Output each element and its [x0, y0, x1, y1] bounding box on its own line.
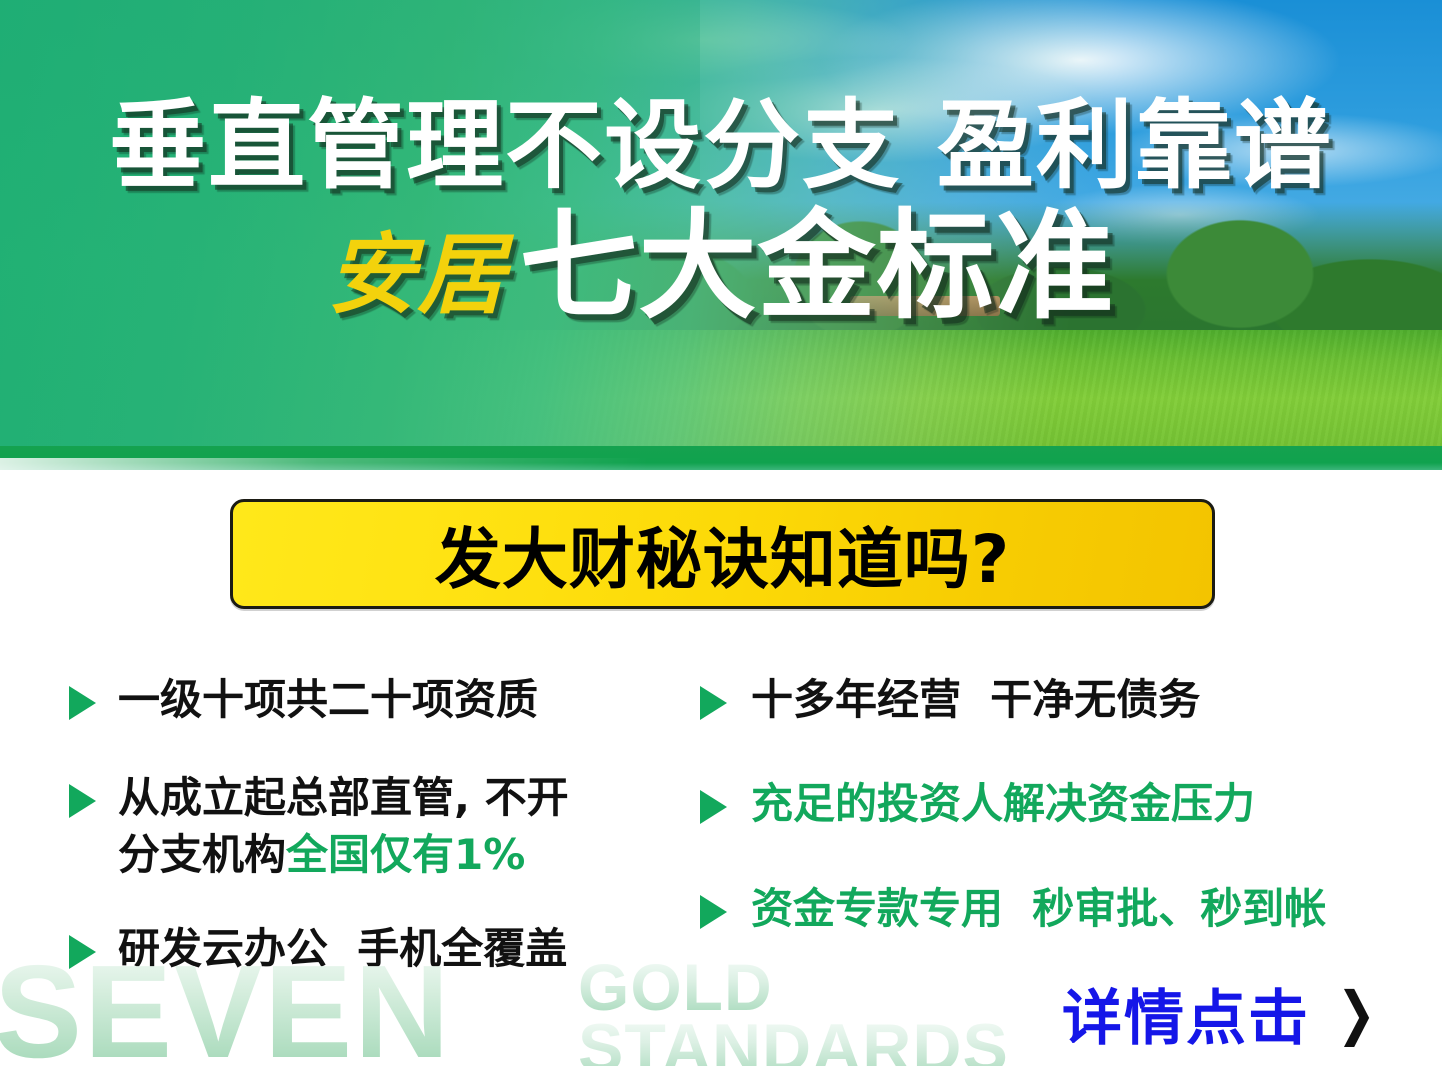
feature-text: 十多年经营 干净无债务	[751, 672, 1200, 728]
headline-brand-text: 安居	[327, 231, 519, 325]
list-item: 研发云办公 手机全覆盖	[62, 921, 702, 977]
list-item: 充足的投资人解决资金压力	[700, 776, 1420, 832]
headline-line-2: 安居 七大金标准	[327, 207, 1114, 325]
list-item: 从成立起总部直管, 不开 分支机构全国仅有1%	[62, 770, 702, 883]
ad-banner-page: 垂直管理不设分支 盈利靠谱 安居 七大金标准 发大财秘诀知道吗? 一级十项共二十…	[0, 0, 1442, 1066]
list-item: 资金专款专用 秒审批、秒到帐	[700, 881, 1420, 937]
feature-text: 一级十项共二十项资质	[118, 672, 538, 728]
details-cta-button[interactable]: 详情点击 ❯	[1062, 970, 1381, 1057]
feature-text: 资金专款专用 秒审批、秒到帐	[751, 881, 1326, 937]
hero-headline-group: 垂直管理不设分支 盈利靠谱 安居 七大金标准	[0, 0, 1442, 470]
triangle-right-icon	[700, 790, 727, 824]
triangle-right-icon	[700, 686, 727, 720]
feature-text: 充足的投资人解决资金压力	[751, 776, 1255, 832]
feature-column-right: 十多年经营 干净无债务 充足的投资人解决资金压力 资金专款专用 秒审批、秒到帐	[700, 660, 1420, 937]
feature-text-accent: 全国仅有1%	[286, 830, 525, 879]
list-item: 一级十项共二十项资质	[62, 672, 702, 728]
triangle-right-icon	[69, 784, 96, 818]
watermark-standards: STANDARDS	[578, 1017, 1009, 1066]
details-cta-label: 详情点击	[1062, 970, 1310, 1057]
highlight-banner[interactable]: 发大财秘诀知道吗?	[230, 499, 1215, 609]
triangle-right-icon	[69, 935, 96, 969]
headline-main-text: 七大金标准	[520, 207, 1115, 325]
feature-text: 研发云办公 手机全覆盖	[118, 921, 567, 977]
list-item: 十多年经营 干净无债务	[700, 672, 1420, 728]
highlight-banner-text: 发大财秘诀知道吗?	[435, 506, 1010, 602]
chevron-right-icon: ❯	[1337, 985, 1376, 1043]
triangle-right-icon	[700, 895, 727, 929]
feature-text: 从成立起总部直管, 不开 分支机构全国仅有1%	[118, 770, 569, 883]
hero-section: 垂直管理不设分支 盈利靠谱 安居 七大金标准	[0, 0, 1442, 470]
triangle-right-icon	[69, 686, 96, 720]
feature-column-left: 一级十项共二十项资质 从成立起总部直管, 不开 分支机构全国仅有1% 研发云办公…	[62, 660, 702, 977]
headline-line-1: 垂直管理不设分支 盈利靠谱	[109, 96, 1333, 197]
feature-columns: 一级十项共二十项资质 从成立起总部直管, 不开 分支机构全国仅有1% 研发云办公…	[0, 660, 1442, 990]
